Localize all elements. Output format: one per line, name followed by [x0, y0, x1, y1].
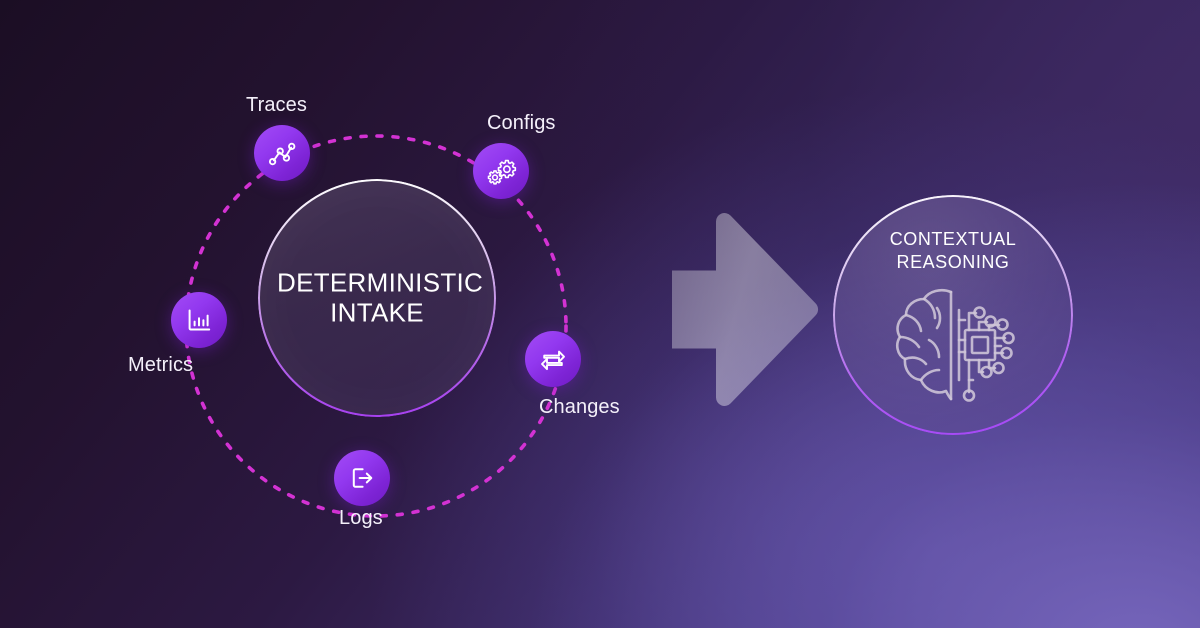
core-label-line2: INTAKE [277, 298, 477, 328]
gears-icon [485, 155, 517, 187]
contextual-reasoning-circle: CONTEXTUAL REASONING [834, 196, 1072, 434]
log-out-icon [347, 463, 377, 493]
source-label-logs: Logs [339, 507, 383, 530]
deterministic-intake-circle: DETERMINISTIC INTAKE [259, 180, 495, 416]
brain-circuit-icon [883, 280, 1023, 410]
core-label-line1: DETERMINISTIC [277, 268, 477, 298]
source-node-logs[interactable] [334, 450, 390, 506]
source-label-metrics: Metrics [128, 354, 193, 377]
core-label: DETERMINISTIC INTAKE [259, 268, 495, 329]
flow-arrow [672, 212, 820, 407]
contextual-reasoning-title: CONTEXTUAL REASONING [834, 228, 1072, 274]
source-node-changes[interactable] [525, 331, 581, 387]
bar-chart-icon [184, 305, 214, 335]
diagram-canvas: DETERMINISTIC INTAKE Traces [0, 0, 1200, 628]
right-block-arrow-icon [672, 213, 818, 406]
exchange-arrows-icon [537, 343, 569, 375]
source-label-changes: Changes [539, 396, 620, 419]
source-node-traces[interactable] [254, 125, 310, 181]
contextual-reasoning-title-line2: REASONING [834, 251, 1072, 274]
source-label-traces: Traces [246, 94, 307, 117]
contextual-reasoning-title-line1: CONTEXTUAL [834, 228, 1072, 251]
source-node-metrics[interactable] [171, 292, 227, 348]
source-node-configs[interactable] [473, 143, 529, 199]
line-chart-nodes-icon [266, 137, 298, 169]
source-label-configs: Configs [487, 112, 556, 135]
